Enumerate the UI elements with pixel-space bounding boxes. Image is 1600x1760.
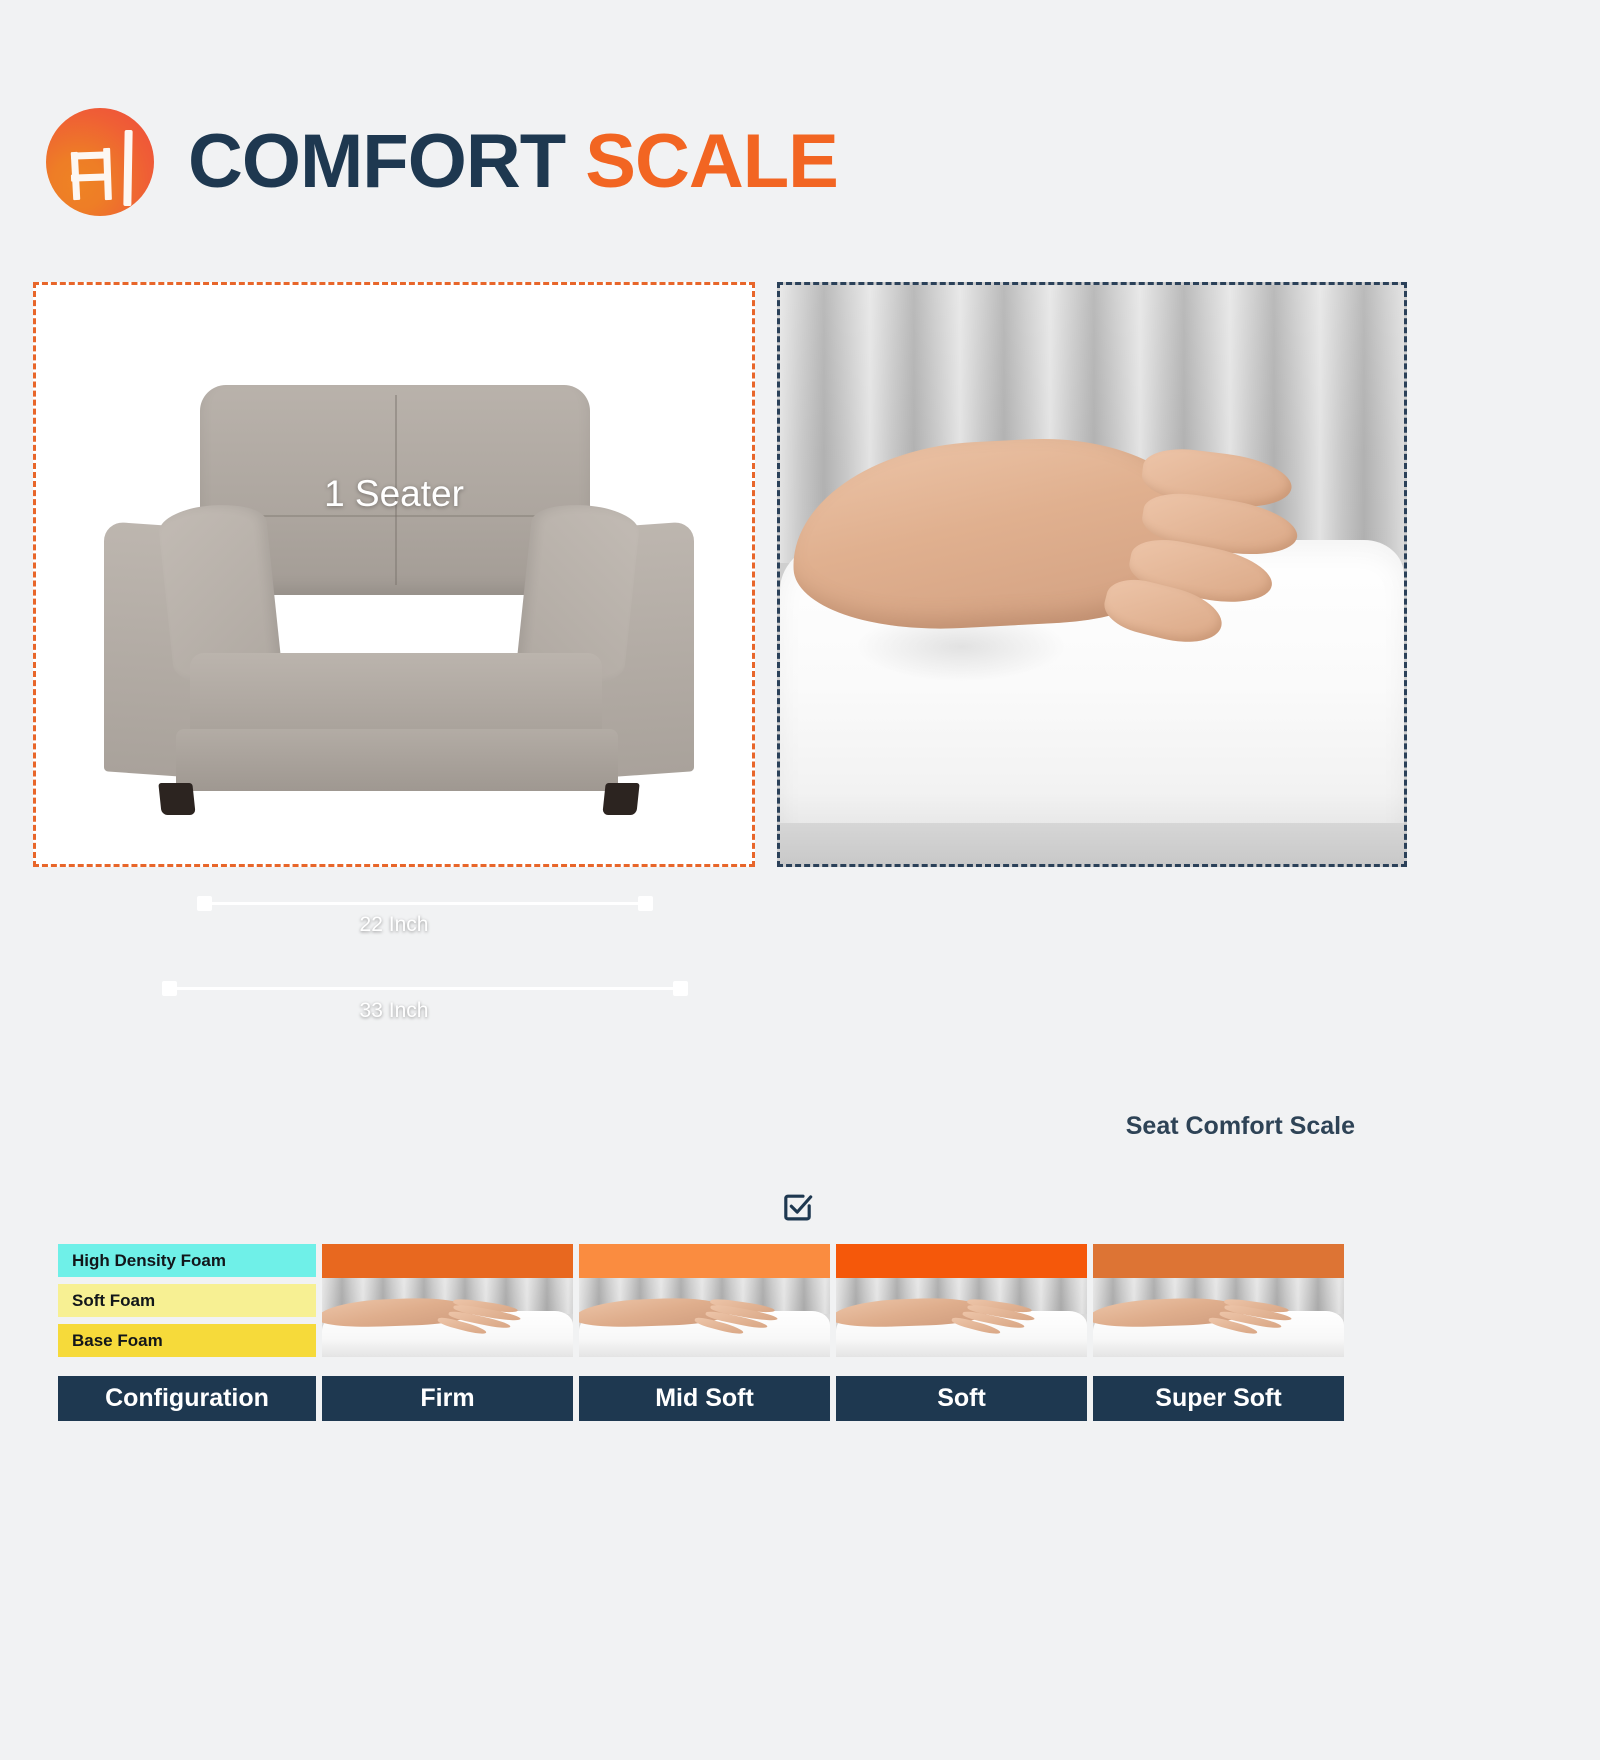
- high-density-bar: [579, 1244, 830, 1278]
- page-title: COMFORT SCALE: [188, 124, 838, 200]
- config-option-mid-soft[interactable]: Mid Soft: [579, 1376, 830, 1421]
- foam-image-panel: [777, 282, 1407, 867]
- product-image-panel: 1 Seater 22 Inch 33 Inch: [33, 282, 755, 867]
- page-header: COMFORT SCALE: [46, 108, 838, 216]
- page-title-primary: COMFORT: [188, 119, 565, 204]
- legend-item-soft-foam: Soft Foam: [58, 1284, 316, 1317]
- seat-width-dimension-line: [199, 902, 651, 905]
- sofa-graphic: [104, 385, 694, 815]
- comfort-scale-body: High Density Foam Soft Foam Base Foam: [58, 1244, 1344, 1364]
- comfort-scale-page: COMFORT SCALE 1 Seater 22 Inch: [0, 0, 1600, 1760]
- comfort-columns: [322, 1244, 1344, 1364]
- foam-thumbnail: [322, 1278, 573, 1357]
- fi-logo-icon: [46, 108, 154, 216]
- config-option-soft[interactable]: Soft: [836, 1376, 1087, 1421]
- config-option-super-soft[interactable]: Super Soft: [1093, 1376, 1344, 1421]
- overall-width-dimension-line: [164, 987, 686, 990]
- legend-item-high-density-foam: High Density Foam: [58, 1244, 316, 1277]
- high-density-bar: [836, 1244, 1087, 1278]
- configuration-row: Configuration Firm Mid Soft Soft Super S…: [58, 1376, 1344, 1421]
- seat-comfort-scale-title: Seat Comfort Scale: [1126, 1112, 1355, 1141]
- comfort-column-soft[interactable]: [836, 1244, 1087, 1357]
- page-title-accent: SCALE: [585, 119, 838, 204]
- foam-thumbnail: [579, 1278, 830, 1357]
- foam-legend-column: High Density Foam Soft Foam Base Foam: [58, 1244, 316, 1364]
- high-density-bar: [1093, 1244, 1344, 1278]
- checkbox-checked-icon: [781, 1190, 814, 1223]
- foam-thumbnail: [1093, 1278, 1344, 1357]
- configuration-header: Configuration: [58, 1376, 316, 1421]
- comfort-column-super-soft[interactable]: [1093, 1244, 1344, 1357]
- configuration-options: Firm Mid Soft Soft Super Soft: [322, 1376, 1344, 1421]
- sofa-illustration: 1 Seater 22 Inch 33 Inch: [36, 285, 752, 864]
- foam-thumbnail: [836, 1278, 1087, 1357]
- overall-width-label: 33 Inch: [36, 999, 752, 1023]
- seater-label: 1 Seater: [36, 473, 752, 515]
- config-option-firm[interactable]: Firm: [322, 1376, 573, 1421]
- comfort-column-firm[interactable]: [322, 1244, 573, 1357]
- legend-item-base-foam: Base Foam: [58, 1324, 316, 1357]
- comfort-scale-table: High Density Foam Soft Foam Base Foam: [58, 1244, 1344, 1421]
- foam-photo: [780, 285, 1404, 864]
- high-density-bar: [322, 1244, 573, 1278]
- seat-width-label: 22 Inch: [36, 913, 752, 937]
- comfort-column-mid-soft[interactable]: [579, 1244, 830, 1357]
